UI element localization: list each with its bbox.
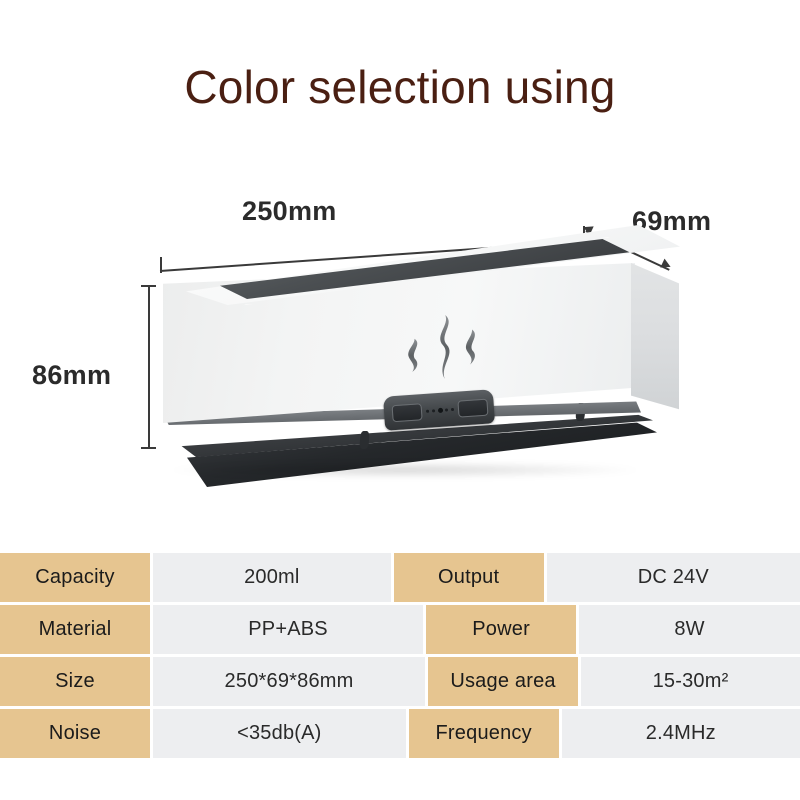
spec-label-output: Output xyxy=(394,553,544,602)
device-side-panel xyxy=(631,246,679,416)
spec-value-usage-area: 15-30m² xyxy=(581,657,800,706)
led-dot xyxy=(432,409,435,412)
spec-label-noise: Noise xyxy=(0,709,150,758)
specification-table: Capacity 200ml Output DC 24V Material PP… xyxy=(0,553,800,761)
spec-label-material: Material xyxy=(0,605,150,654)
dimension-tick-height-bottom xyxy=(141,447,156,449)
spec-value-power: 8W xyxy=(579,605,800,654)
spec-label-size: Size xyxy=(0,657,150,706)
mode-button[interactable] xyxy=(457,399,488,418)
spec-value-frequency: 2.4MHz xyxy=(562,709,800,758)
led-dot xyxy=(445,408,448,411)
spec-label-power: Power xyxy=(426,605,576,654)
spec-label-capacity: Capacity xyxy=(0,553,150,602)
table-row: Material PP+ABS Power 8W xyxy=(0,605,800,654)
dimension-label-width: 250mm xyxy=(242,196,337,227)
spec-value-noise: <35db(A) xyxy=(153,709,406,758)
device-shadow xyxy=(170,462,640,478)
spec-value-size: 250*69*86mm xyxy=(153,657,425,706)
spec-label-usage-area: Usage area xyxy=(428,657,578,706)
steam-wave-icon xyxy=(401,307,489,388)
spec-value-material: PP+ABS xyxy=(153,605,423,654)
table-row: Size 250*69*86mm Usage area 15-30m² xyxy=(0,657,800,706)
spec-value-capacity: 200ml xyxy=(153,553,391,602)
led-dot xyxy=(451,407,454,410)
table-row: Capacity 200ml Output DC 24V xyxy=(0,553,800,602)
led-dot-center xyxy=(437,407,442,412)
spec-value-output: DC 24V xyxy=(547,553,800,602)
product-illustration: 250mm 69mm 86mm xyxy=(0,170,800,530)
table-row: Noise <35db(A) Frequency 2.4MHz xyxy=(0,709,800,758)
power-button[interactable] xyxy=(392,403,423,422)
led-dot xyxy=(426,409,429,412)
page-title: Color selection using xyxy=(0,62,800,113)
spec-label-frequency: Frequency xyxy=(409,709,559,758)
dimension-line-height xyxy=(148,286,150,448)
dimension-tick-height-top xyxy=(141,285,156,287)
dimension-label-height: 86mm xyxy=(32,360,111,391)
control-panel[interactable] xyxy=(383,389,495,431)
led-indicator-group xyxy=(426,405,454,415)
